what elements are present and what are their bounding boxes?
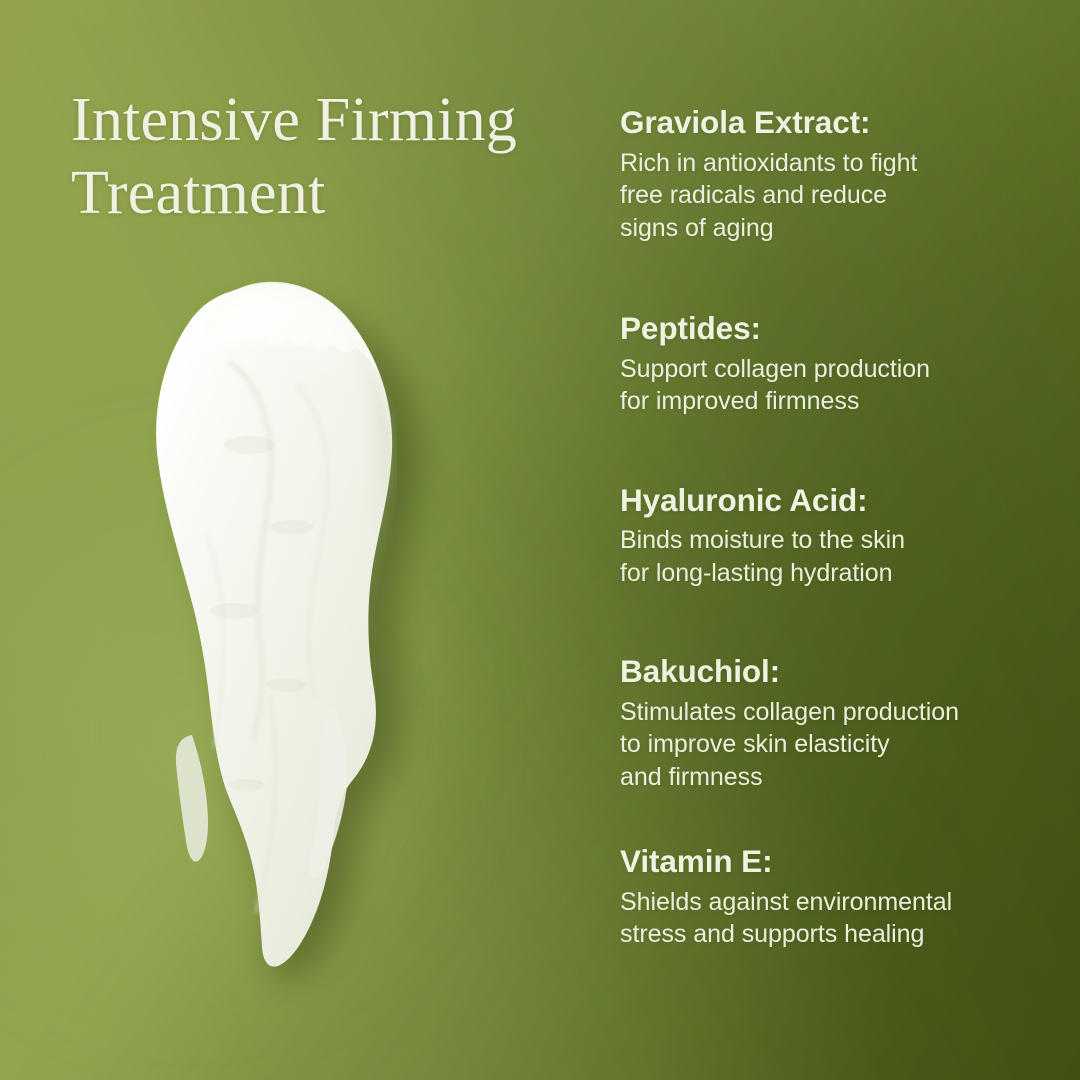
ingredient-name: Peptides: xyxy=(620,310,1050,347)
spacer xyxy=(620,244,1050,310)
ingredient-description: Shields against environmental stress and… xyxy=(620,886,1050,951)
ingredient-list: Graviola Extract: Rich in antioxidants t… xyxy=(620,104,1050,951)
ingredient-item-peptides: Peptides: Support collagen production fo… xyxy=(620,310,1050,418)
ingredient-name: Bakuchiol: xyxy=(620,653,1050,690)
ingredient-description: Binds moisture to the skin for long-last… xyxy=(620,524,1050,589)
ingredient-name: Vitamin E: xyxy=(620,843,1050,880)
ingredient-name: Graviola Extract: xyxy=(620,104,1050,141)
ingredient-item-bakuchiol: Bakuchiol: Stimulates collagen productio… xyxy=(620,653,1050,793)
ingredient-item-hyaluronic-acid: Hyaluronic Acid: Binds moisture to the s… xyxy=(620,482,1050,590)
product-infographic: Intensive Firming Treatment Graviola Ext… xyxy=(0,0,1080,1080)
ingredient-description: Rich in antioxidants to fight free radic… xyxy=(620,147,1050,245)
page-title: Intensive Firming Treatment xyxy=(71,84,611,229)
ingredient-description: Stimulates collagen production to improv… xyxy=(620,696,1050,794)
cream-swatch xyxy=(120,265,480,985)
spacer xyxy=(620,589,1050,653)
spacer xyxy=(620,793,1050,843)
spacer xyxy=(620,418,1050,482)
ingredient-item-graviola-extract: Graviola Extract: Rich in antioxidants t… xyxy=(620,104,1050,244)
cream-swatch-shape xyxy=(120,265,480,985)
ingredient-name: Hyaluronic Acid: xyxy=(620,482,1050,519)
ingredient-description: Support collagen production for improved… xyxy=(620,353,1050,418)
ingredient-item-vitamin-e: Vitamin E: Shields against environmental… xyxy=(620,843,1050,951)
